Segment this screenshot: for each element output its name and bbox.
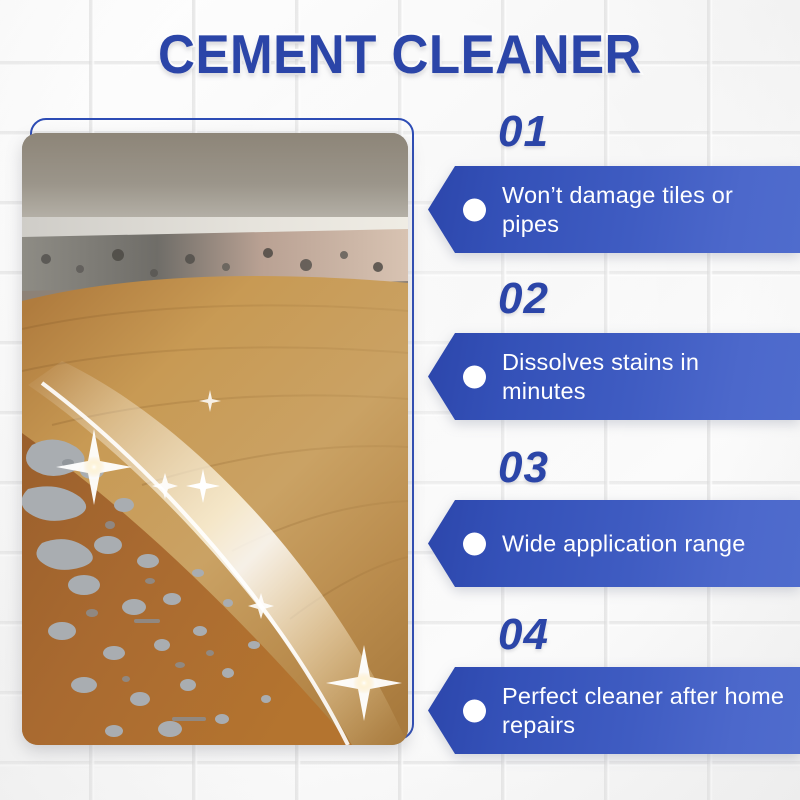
feature-banner-02[interactable]: Dissolves stains in minutes: [428, 333, 800, 420]
feature-banner-03[interactable]: Wide application range: [428, 500, 800, 587]
page-title: CEMENT CLEANER: [28, 22, 772, 86]
dot-icon: [463, 365, 486, 388]
feature-text-02: Dissolves stains in minutes: [502, 348, 786, 406]
feature-number-04: 04: [498, 610, 549, 660]
feature-text-03: Wide application range: [502, 529, 786, 558]
dot-icon: [463, 198, 486, 221]
feature-text-01: Won’t damage tiles or pipes: [502, 181, 786, 239]
infographic-canvas: CEMENT CLEANER: [0, 0, 800, 800]
feature-banner-01[interactable]: Won’t damage tiles or pipes: [428, 166, 800, 253]
dot-icon: [463, 532, 486, 555]
product-photo: [22, 133, 408, 745]
feature-number-02: 02: [498, 274, 549, 324]
feature-number-01: 01: [498, 107, 549, 157]
floor-illustration: [22, 133, 408, 745]
feature-banner-04[interactable]: Perfect cleaner after home repairs: [428, 667, 800, 754]
dot-icon: [463, 699, 486, 722]
feature-text-04: Perfect cleaner after home repairs: [502, 682, 786, 740]
feature-number-03: 03: [498, 443, 549, 493]
